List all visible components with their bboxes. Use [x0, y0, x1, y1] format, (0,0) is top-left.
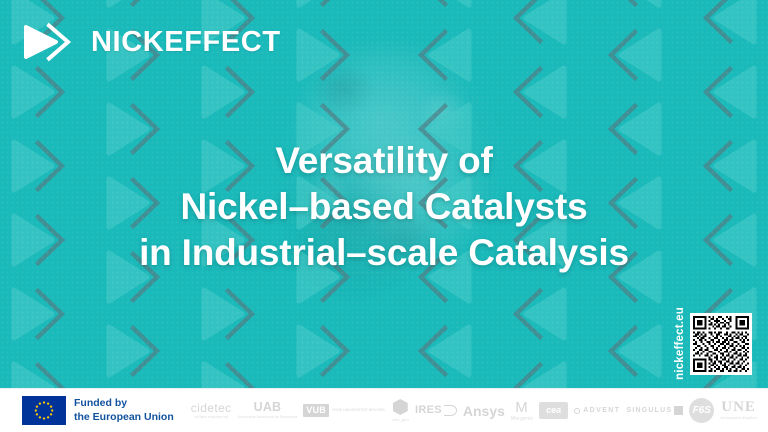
partner-name-vub: VUB: [303, 404, 329, 417]
slide-title: Versatility of Nickel–based Catalysts in…: [0, 138, 768, 276]
partner-logo-advent: ADVENT: [574, 407, 620, 414]
partner-sub-cidetec: surface engineering: [194, 416, 227, 420]
partner-sub-hexagon: vitro_gen: [392, 418, 409, 422]
partner-name-une: UNE: [721, 400, 756, 415]
partner-logo-ansys: Ansys: [463, 404, 505, 418]
arc-icon: [444, 405, 457, 416]
partner-logo-f6s: F6S: [689, 398, 714, 423]
partner-logo-cidetec: cidetec surface engineering: [191, 402, 232, 420]
partner-logo-morgenix: M Morgenix: [511, 400, 533, 422]
website-url-label: nickeffect.eu: [675, 307, 687, 380]
partner-name-singulus: SINGULUS: [626, 407, 672, 414]
partner-name-cidetec: cidetec: [191, 402, 232, 414]
title-line-1: Versatility of: [34, 138, 734, 184]
partner-name-ires: IRES: [415, 405, 442, 416]
partner-name-uab: UAB: [254, 401, 282, 414]
circle-icon: [574, 408, 580, 414]
ires-row: IRES: [415, 405, 457, 416]
eu-funding-line-1: Funded by: [74, 397, 127, 409]
qr-code-icon[interactable]: [690, 313, 752, 375]
partner-logo-cea: cea: [539, 402, 568, 419]
hexagon-icon: [393, 399, 408, 415]
partner-name-morgenix: M: [515, 400, 529, 415]
square-mark-icon: [674, 406, 683, 415]
title-line-2: Nickel–based Catalysts: [34, 184, 734, 230]
partner-logo-ires: IRES: [415, 405, 457, 416]
presentation-slide: NICKEFFECT Versatility of Nickel–based C…: [0, 0, 768, 432]
partner-sub-vub: VRIJE UNIVERSITEIT BRUSSEL: [332, 408, 386, 413]
partner-logo-uab: UAB Universitat Autònoma de Barcelona: [238, 401, 298, 419]
eu-funding-block: Funded by the European Union: [22, 396, 174, 425]
partner-logo-strip: cidetec surface engineering UAB Universi…: [174, 398, 768, 423]
partner-sub-uab: Universitat Autònoma de Barcelona: [238, 416, 298, 420]
partner-name-advent: ADVENT: [583, 407, 620, 414]
eu-funding-line-2: the European Union: [74, 411, 174, 423]
nickeffect-logo: NICKEFFECT: [22, 22, 281, 62]
european-union-flag-icon: [22, 396, 66, 425]
brand-wordmark: NICKEFFECT: [91, 28, 281, 57]
partner-name-cea: cea: [546, 406, 561, 415]
footer-bar: Funded by the European Union cidetec sur…: [0, 388, 768, 432]
partner-logo-une: UNE Normalización Española: [720, 400, 757, 420]
title-line-3: in Industrial–scale Catalysis: [34, 230, 734, 276]
eu-funding-text: Funded by the European Union: [74, 397, 174, 424]
partner-logo-hexagon: vitro_gen: [392, 399, 409, 422]
partner-name-f6s: F6S: [689, 398, 714, 423]
partner-sub-morgenix: Morgenix: [511, 417, 533, 422]
partner-logo-vub: VUB VRIJE UNIVERSITEIT BRUSSEL: [303, 404, 385, 417]
partner-name-ansys: Ansys: [463, 404, 505, 418]
play-triangle-chevron-icon: [22, 22, 82, 62]
qr-block[interactable]: nickeffect.eu: [675, 307, 753, 380]
partner-logo-singulus: SINGULUS: [626, 406, 683, 415]
partner-sub-une: Normalización Española: [720, 417, 757, 420]
